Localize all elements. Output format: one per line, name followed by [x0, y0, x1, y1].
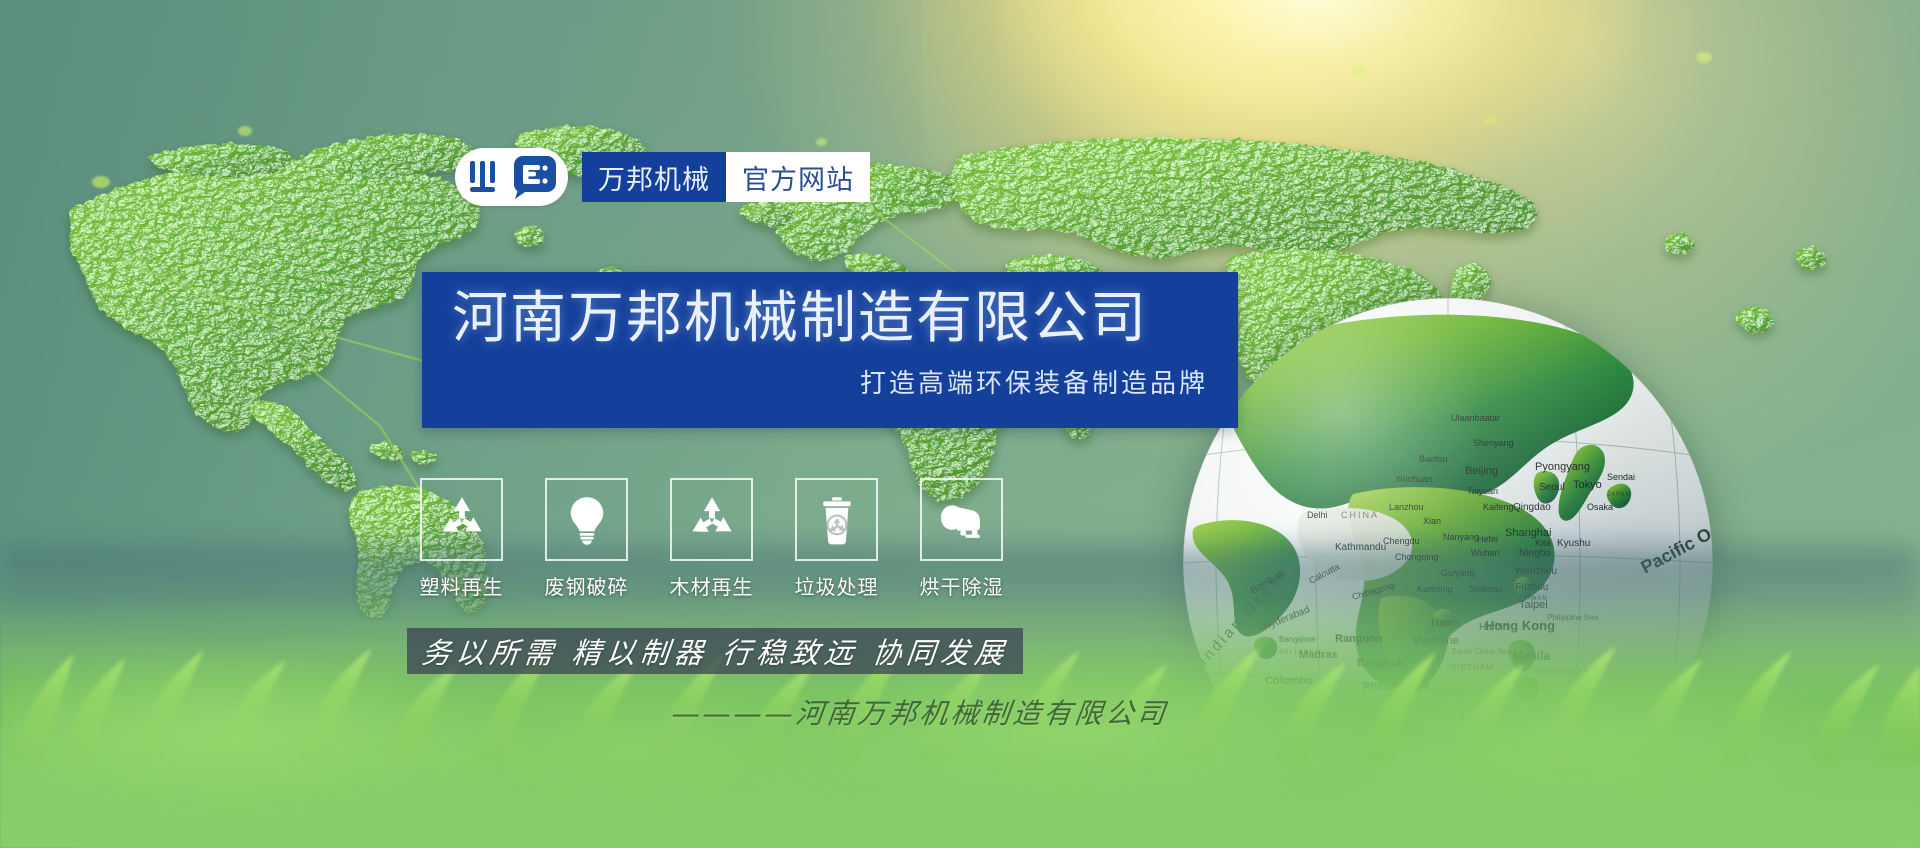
globe-city-nanyang: Nanyang: [1443, 532, 1479, 542]
particle: [1484, 116, 1497, 125]
feature-icon-row: 塑料再生 废钢破碎: [420, 478, 1003, 600]
feature-label: 垃圾处理: [795, 571, 879, 600]
hero-title-banner: 河南万邦机械制造有限公司 打造高端环保装备制造品牌: [422, 272, 1238, 428]
feature-item-scrap-steel-crushing[interactable]: 废钢破碎: [545, 478, 628, 600]
brand-tab-company[interactable]: 万邦机械: [582, 152, 726, 202]
globe-label-china: CHINA: [1341, 510, 1379, 520]
globe-city-ulaanbaatar: Ulaanbaatar: [1451, 413, 1500, 423]
globe-city-baotou: Baotou: [1419, 454, 1448, 464]
feature-label: 废钢破碎: [545, 571, 629, 600]
particle: [1696, 52, 1712, 63]
feature-icon-box[interactable]: [670, 478, 753, 561]
globe-city-yinchuan: Yinchuan: [1395, 474, 1432, 484]
globe-city-tokyo: Tokyo: [1573, 479, 1602, 491]
globe-city-kaifeng: Kaifeng: [1483, 502, 1514, 512]
recycle-icon: [436, 494, 488, 546]
slogan-credit: ————河南万邦机械制造有限公司: [658, 692, 1183, 732]
globe-city-pyongyang: Pyongyang: [1535, 461, 1590, 473]
recycle-icon: [686, 494, 738, 546]
particle: [816, 138, 827, 146]
dryer-blower-icon: [936, 494, 988, 546]
feature-label: 烘干除湿: [920, 571, 1004, 600]
globe-city-chengdu: Chengdu: [1383, 536, 1420, 546]
feature-icon-box[interactable]: [545, 478, 628, 561]
globe-city-xian: Xian: [1423, 516, 1441, 526]
globe-city-lanzhou: Lanzhou: [1389, 502, 1424, 512]
globe-label-japan: JAPAN: [1607, 492, 1631, 498]
globe-city-taiyuan: Taiyuan: [1467, 486, 1498, 496]
globe-city-kita: Kita: [1535, 538, 1551, 548]
logo-w-mark-icon: [467, 159, 507, 195]
feature-item-waste-treatment[interactable]: 垃圾处理: [795, 478, 878, 600]
feature-icon-box[interactable]: [795, 478, 878, 561]
lightbulb-icon: [561, 494, 613, 546]
particle: [92, 176, 110, 188]
feature-item-drying-dehumidifying[interactable]: 烘干除湿: [920, 478, 1003, 600]
feature-icon-box[interactable]: [420, 478, 503, 561]
brand-tab-group[interactable]: 万邦机械 官方网站: [582, 152, 870, 202]
hero-banner-stage: Pacific Ocean Indian Ocean South China S…: [0, 0, 1920, 848]
site-logo-row[interactable]: 万邦机械 官方网站: [455, 148, 870, 206]
slogan-text: 务以所需 精以制器 行稳致远 协同发展: [419, 630, 1010, 672]
particle: [238, 126, 252, 136]
company-name-title: 河南万邦机械制造有限公司: [452, 288, 1208, 351]
slogan-band: 务以所需 精以制器 行稳致远 协同发展: [407, 628, 1023, 674]
feature-item-wood-recycling[interactable]: 木材再生: [670, 478, 753, 600]
logo-e-bubble-icon: [511, 155, 557, 199]
feature-label: 塑料再生: [420, 571, 504, 600]
company-tagline: 打造高端环保装备制造品牌: [452, 363, 1208, 400]
globe-city-qingdao: Qingdao: [1513, 502, 1551, 513]
globe-city-delhi: Delhi: [1307, 510, 1328, 520]
feature-icon-box[interactable]: [920, 478, 1003, 561]
trash-bin-recycle-icon: [811, 494, 863, 546]
globe-city-hefei: Hefei: [1477, 534, 1498, 544]
feature-item-plastic-recycling[interactable]: 塑料再生: [420, 478, 503, 600]
brand-tab-official-site[interactable]: 官方网站: [726, 152, 870, 202]
globe-city-seoul: Seoul: [1539, 482, 1565, 493]
globe-city-beijing: Beijing: [1465, 465, 1498, 477]
feature-label: 木材再生: [670, 571, 754, 600]
logo-badge[interactable]: [455, 148, 568, 206]
globe-city-shenyang: Shenyang: [1473, 438, 1514, 448]
globe-city-osaka: Osaka: [1587, 502, 1613, 512]
particle: [1352, 66, 1364, 75]
globe-city-sendai: Sendai: [1607, 472, 1635, 482]
